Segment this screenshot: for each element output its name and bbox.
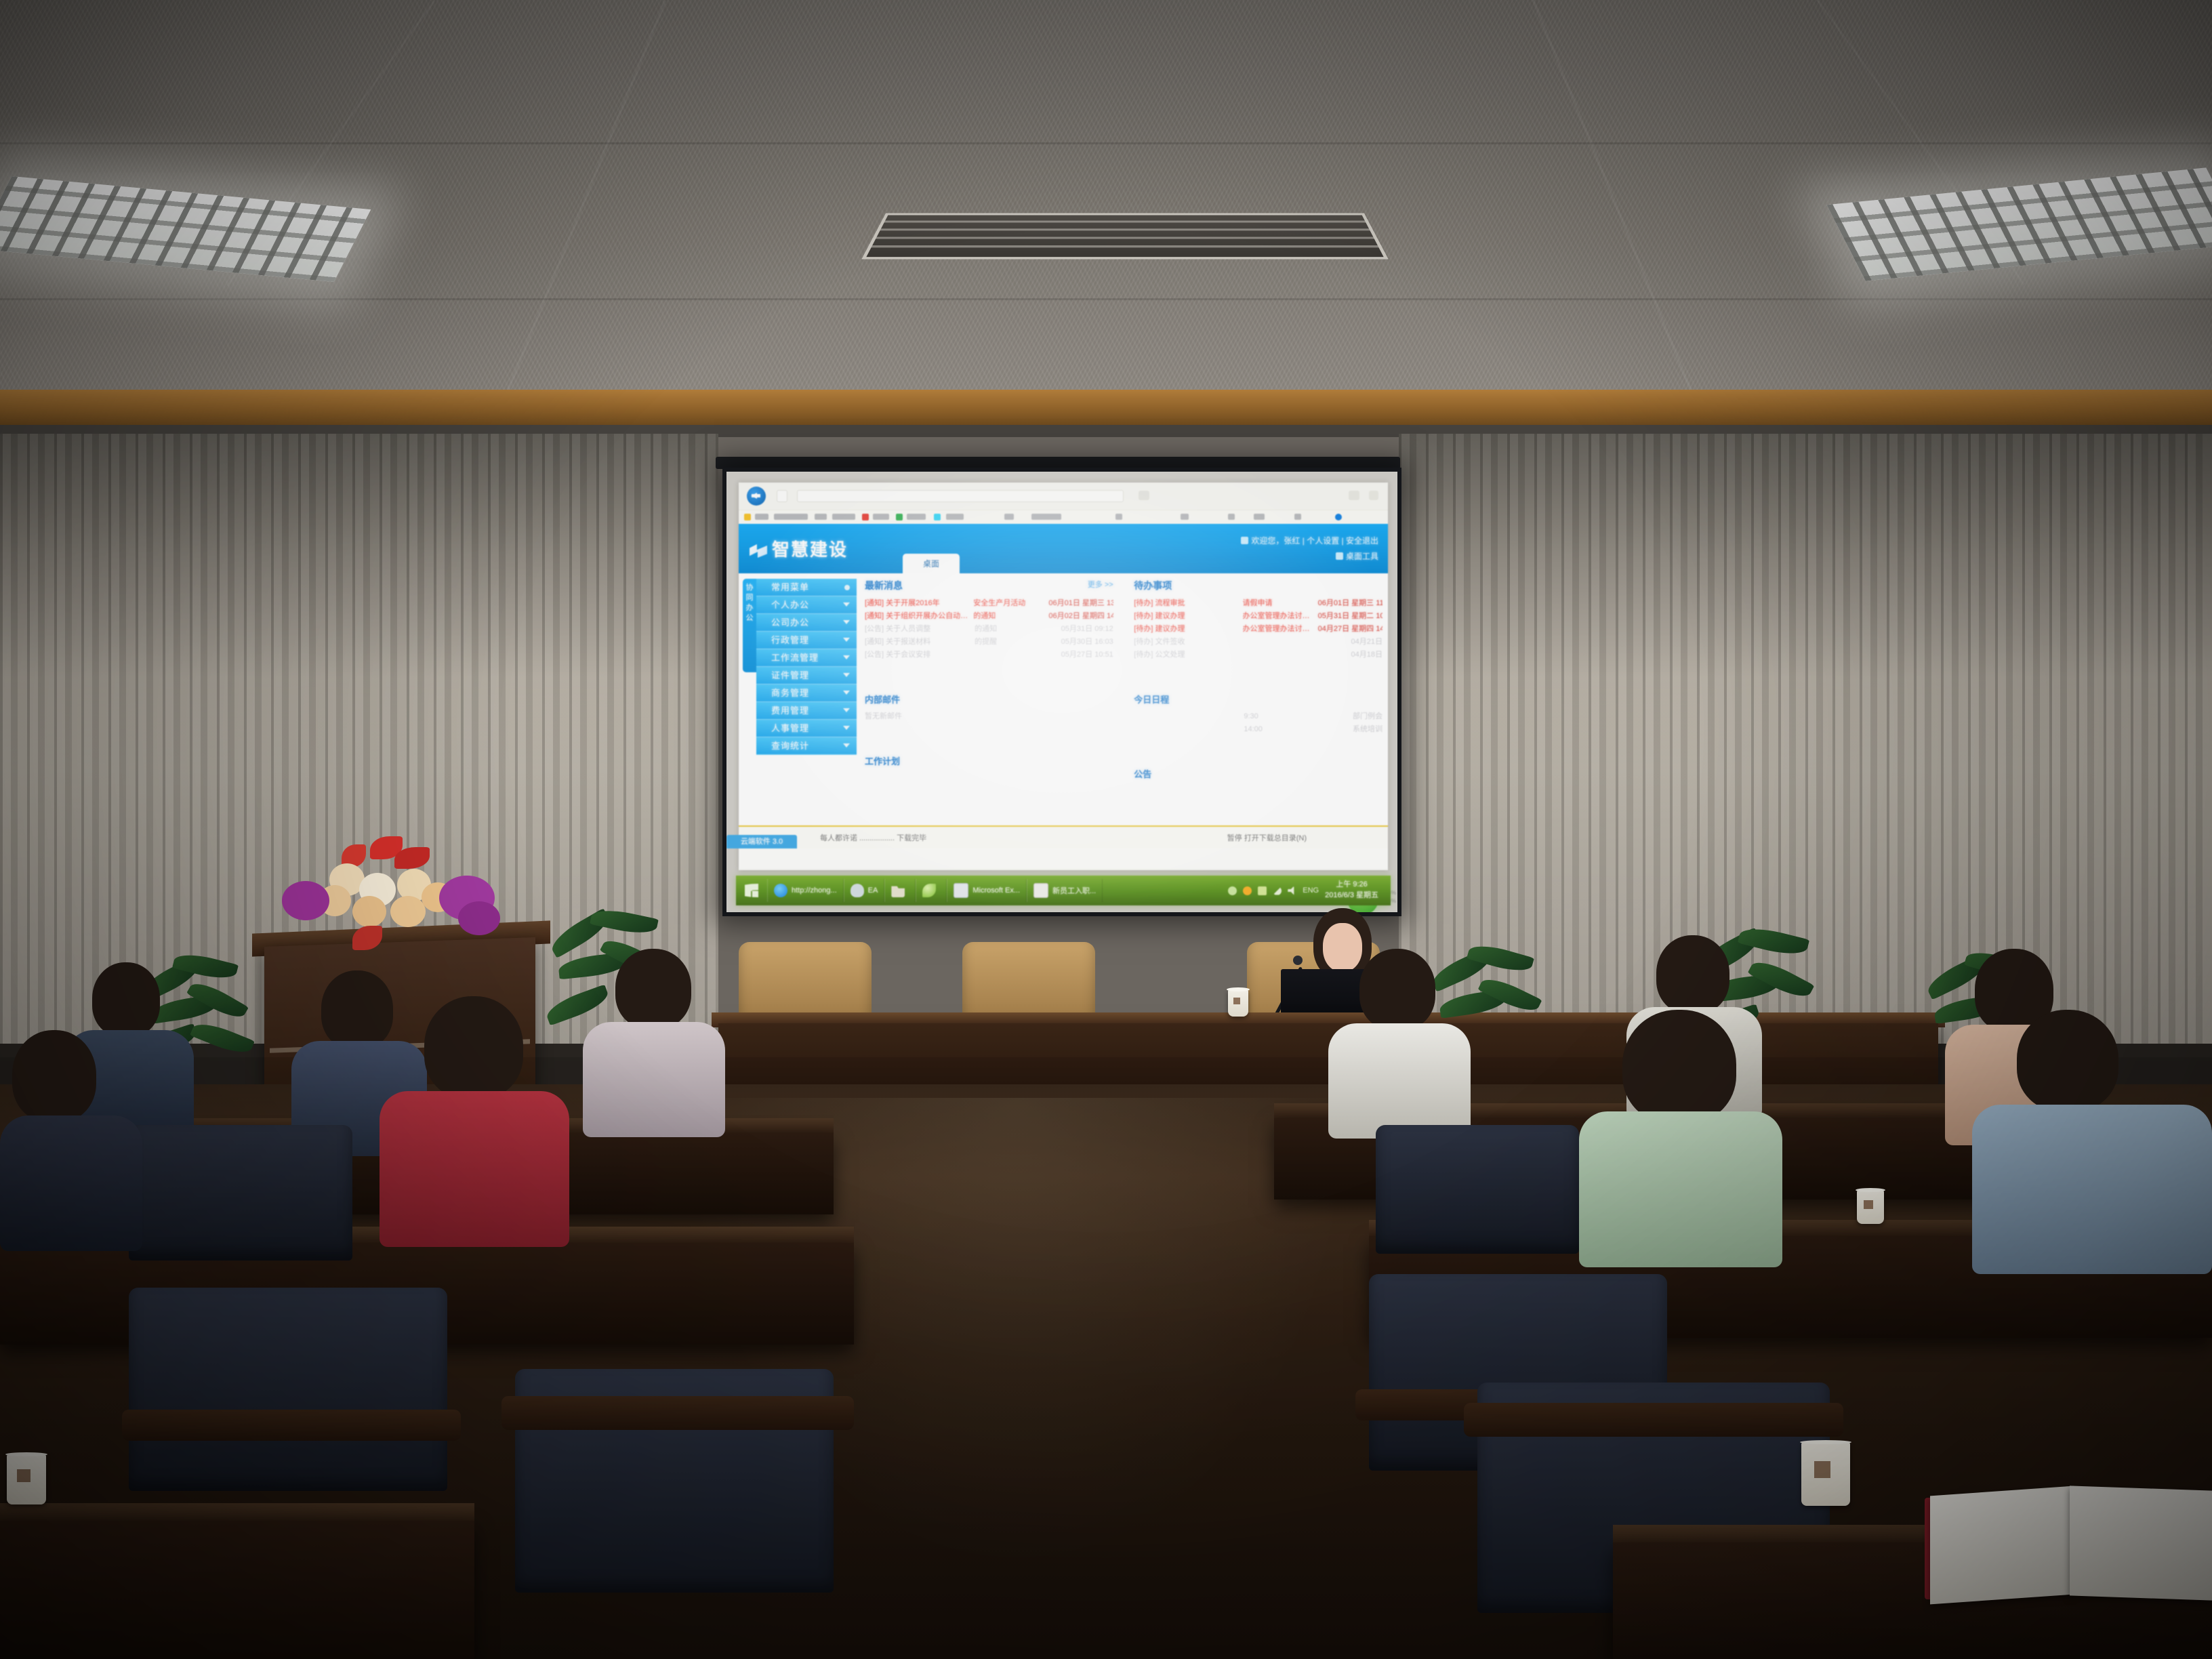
news-sub: 的通知 — [973, 610, 1044, 623]
chair — [129, 1288, 447, 1491]
news-date: 05月30日 16:03 — [1051, 636, 1113, 649]
clock-date: 2016/6/3 星期五 — [1325, 890, 1378, 901]
news-date: 05月31日 09:12 — [1051, 623, 1113, 636]
panel-title: 公告 — [1134, 767, 1382, 780]
browser-nav-bar — [739, 483, 1388, 510]
attendee-head — [424, 996, 523, 1099]
favorite-item[interactable] — [1254, 514, 1265, 520]
mail-title: 暂无新邮件 — [865, 710, 970, 723]
taskbar-item-word[interactable]: 新员工入职... — [1027, 879, 1103, 902]
panel-announcement: 公告 — [1134, 767, 1382, 780]
attendee-head — [615, 949, 691, 1029]
taskbar-item-excel[interactable]: Microsoft Ex... — [947, 879, 1027, 902]
attendee — [1579, 1010, 1782, 1240]
panel-title-text: 待办事项 — [1134, 580, 1172, 591]
brand-text: 智慧建设 — [772, 539, 848, 560]
panel-title: 内部邮件 — [865, 693, 1113, 705]
news-title: [通知] 关于开展2016年 — [865, 597, 969, 610]
volume-icon[interactable] — [1288, 886, 1296, 895]
schedule-subject: 系统培训 — [1320, 723, 1382, 736]
panel-more-link[interactable]: 更多 >> — [1088, 579, 1113, 590]
cup-logo — [1233, 998, 1240, 1004]
download-tab[interactable]: 云端软件 3.0 — [726, 835, 797, 848]
favorites-bar — [739, 510, 1388, 524]
favorite-icon[interactable] — [862, 514, 869, 520]
news-title: [通知] 关于报送材料 — [865, 636, 970, 649]
panel-title: 待办事项 — [1134, 579, 1382, 592]
ceiling-seam — [0, 298, 2212, 300]
sidebar-item-label: 工作流管理 — [771, 653, 819, 663]
panel-title: 今日日程 — [1134, 693, 1382, 705]
attendee-head — [92, 962, 160, 1037]
favorite-icon[interactable] — [934, 514, 941, 520]
chevron-down-icon — [843, 708, 850, 712]
welcome-row[interactable]: 欢迎您，张红 | 个人设置 | 安全退出 — [1241, 533, 1378, 549]
sidebar-item-stats[interactable]: 查询统计 — [756, 737, 857, 755]
panel-todo: 待办事项 [待办] 流程审批 请假申请 06月01日 星期三 11:20 [待办… — [1134, 579, 1382, 785]
cup-logo — [17, 1469, 30, 1482]
todo-subject — [1244, 636, 1315, 649]
chair — [129, 1125, 352, 1261]
chair-armrest — [501, 1396, 854, 1430]
attendee — [583, 949, 725, 1118]
sidebar-item-common[interactable]: 常用菜单 — [756, 579, 857, 596]
chair — [1376, 1125, 1579, 1254]
todo-type: [待办] 公文处理 — [1134, 649, 1240, 661]
taskbar-item-label: EA — [868, 886, 878, 895]
app-body: 协同办公 常用菜单 个人办公 公司办公 行政管理 工作流管理 证件管理 商务管理… — [739, 573, 1388, 848]
ceiling-air-vent — [861, 213, 1388, 260]
todo-type: [待办] 流程审批 — [1134, 597, 1238, 610]
taskbar-item-leaf[interactable] — [916, 879, 947, 902]
home-icon[interactable] — [1139, 491, 1149, 500]
dot-icon — [844, 585, 850, 590]
welcome-text: 欢迎您，张红 | 个人设置 | 安全退出 — [1251, 536, 1378, 546]
mail-date — [1051, 710, 1113, 723]
mail-row[interactable]: 暂无新邮件 — [865, 710, 1113, 723]
download-actions[interactable]: 暂停 打开下载总目录(N) — [1227, 832, 1307, 843]
user-bar: 欢迎您，张红 | 个人设置 | 安全退出 桌面工具 — [1241, 533, 1378, 565]
conference-room-photo: 智慧建设 欢迎您，张红 | 个人设置 | 安全退出 桌面工具 桌面 协同办公 常… — [0, 0, 2212, 1659]
address-bar[interactable] — [797, 490, 1124, 502]
sidebar-item-company[interactable]: 公司办公 — [756, 614, 857, 632]
chevron-down-icon — [843, 638, 850, 642]
sidebar-item-workflow[interactable]: 工作流管理 — [756, 649, 857, 667]
vent-slat — [876, 237, 1374, 239]
download-text: 每人都许诺 ................. 下载完毕 — [820, 832, 926, 843]
flower-peach — [390, 896, 426, 927]
todo-row[interactable]: [待办] 流程审批 请假申请 06月01日 星期三 11:20 — [1134, 597, 1382, 610]
attendee-head — [1656, 935, 1729, 1014]
news-sub: 安全生产月活动 — [973, 597, 1044, 610]
tray-language[interactable]: ENG — [1303, 886, 1319, 895]
schedule-label — [1134, 723, 1240, 736]
notebook-page-right — [2070, 1486, 2212, 1600]
attendee-torso-white — [1328, 1023, 1471, 1139]
todo-row[interactable]: [待办] 公文处理 04月18日 — [1134, 649, 1382, 661]
chevron-down-icon — [843, 620, 850, 624]
paper-cup — [1228, 989, 1248, 1017]
panel-work-plan: 工作计划 — [865, 754, 1113, 767]
attendee — [1972, 1010, 2212, 1254]
paper-cup — [7, 1454, 46, 1504]
favorite-item[interactable] — [755, 514, 769, 520]
chair-armrest — [1464, 1403, 1843, 1437]
attendee-torso-green — [1579, 1111, 1782, 1267]
sidebar-item-label: 查询统计 — [771, 741, 809, 751]
flower-arrangement — [271, 834, 515, 949]
favorite-item[interactable] — [1115, 514, 1122, 520]
news-sub: 的提醒 — [975, 636, 1046, 649]
notebook-page-left — [1930, 1486, 2074, 1605]
favorites-star-icon[interactable] — [744, 514, 751, 520]
favorite-item[interactable] — [774, 514, 808, 520]
flower-peach — [352, 896, 386, 927]
sidebar-item-business[interactable]: 商务管理 — [756, 684, 857, 702]
todo-date: 04月21日 — [1320, 636, 1382, 649]
schedule-label — [1134, 710, 1240, 723]
attendee — [0, 1030, 142, 1233]
sidebar-item-expense[interactable]: 费用管理 — [756, 702, 857, 720]
taskbar-item-folder[interactable] — [884, 879, 916, 902]
cup-logo — [1864, 1200, 1873, 1209]
news-sub: 的通知 — [975, 623, 1046, 636]
sidebar-item-certificates[interactable]: 证件管理 — [756, 667, 857, 684]
panel-title-text: 最新消息 — [865, 580, 903, 591]
sidebar-menu: 常用菜单 个人办公 公司办公 行政管理 工作流管理 证件管理 商务管理 费用管理… — [756, 579, 857, 755]
news-title: [公告] 关于会议安排 — [865, 649, 970, 661]
monitor-icon — [1336, 552, 1343, 560]
attendee-torso — [583, 1022, 725, 1137]
system-tray: ENG 上午 9:26 2016/6/3 星期五 — [1228, 880, 1391, 901]
todo-type: [待办] 建议办理 — [1134, 610, 1238, 623]
word-icon — [1033, 883, 1048, 898]
app-brand: 智慧建设 — [750, 536, 848, 561]
shield-icon[interactable] — [1228, 886, 1237, 895]
todo-date: 06月01日 星期三 11:20 — [1318, 597, 1382, 610]
chair-armrest — [122, 1410, 461, 1441]
news-title: [通知] 关于组织开展办公自动化系统培训 — [865, 610, 969, 623]
projected-desktop: 智慧建设 欢迎您，张红 | 个人设置 | 安全退出 桌面工具 桌面 协同办公 常… — [726, 472, 1397, 912]
taskbar-item-label: http://zhong... — [792, 886, 837, 895]
sidebar-group-label: 协同办公 — [743, 579, 756, 672]
favorite-item[interactable] — [832, 514, 855, 520]
favorite-icon[interactable] — [1335, 514, 1342, 520]
taskbar-item-label: 新员工入职... — [1052, 885, 1096, 896]
usb-icon[interactable] — [1258, 886, 1267, 895]
sidebar-item-label: 证件管理 — [771, 670, 809, 680]
plant-leaf — [190, 1018, 255, 1059]
news-sub — [975, 649, 1046, 661]
brand-logo-icon — [750, 544, 767, 558]
download-bar: 云端软件 3.0 每人都许诺 ................. 下载完毕 暂停… — [739, 825, 1388, 848]
folder-icon — [891, 884, 905, 897]
windows-taskbar: http://zhong... EA — [736, 876, 1391, 905]
chevron-down-icon — [843, 691, 850, 695]
news-date: 06月02日 星期四 14:24 — [1048, 610, 1113, 623]
projection-screen: 智慧建设 欢迎您，张红 | 个人设置 | 安全退出 桌面工具 桌面 协同办公 常… — [722, 468, 1401, 916]
favorite-item[interactable] — [1228, 514, 1235, 520]
vent-slat — [880, 228, 1370, 230]
panel-title: 更多 >> 最新消息 — [865, 579, 1113, 592]
favorite-item[interactable] — [815, 514, 827, 520]
schedule-subject: 部门例会 — [1320, 710, 1382, 723]
attendee-torso-blue — [1972, 1105, 2212, 1274]
todo-date: 04月18日 — [1320, 649, 1382, 661]
sidebar-item-label: 公司办公 — [771, 617, 809, 628]
news-row[interactable]: [公告] 关于会议安排 05月27日 10:51 — [865, 649, 1113, 661]
start-button[interactable] — [736, 876, 767, 905]
todo-subject — [1244, 649, 1315, 661]
favorite-item[interactable] — [1031, 514, 1061, 520]
news-title: [公告] 关于人员调整 — [865, 623, 970, 636]
flower-purple — [458, 901, 500, 935]
todo-date: 05月31日 星期二 10:25 — [1318, 610, 1382, 623]
attendee-head — [12, 1030, 96, 1122]
favorite-icon[interactable] — [896, 514, 903, 520]
taskbar-item-label: Microsoft Ex... — [972, 886, 1020, 895]
todo-type: [待办] 文件签收 — [1134, 636, 1240, 649]
paper-cup — [1857, 1190, 1884, 1224]
panel-today-schedule: 今日日程 9:30 部门例会 14:00 — [1134, 693, 1382, 736]
browser-window: 智慧建设 欢迎您，张红 | 个人设置 | 安全退出 桌面工具 桌面 协同办公 常… — [739, 483, 1388, 870]
news-row[interactable]: [通知] 关于报送材料 的提醒 05月30日 16:03 — [865, 636, 1113, 649]
taskbar-clock[interactable]: 上午 9:26 2016/6/3 星期五 — [1325, 880, 1384, 901]
refresh-icon[interactable] — [777, 490, 787, 502]
sidebar-item-hr[interactable]: 人事管理 — [756, 720, 857, 737]
chevron-down-icon — [843, 602, 850, 607]
flower-red — [352, 926, 382, 950]
wall-valance-band — [0, 390, 2212, 425]
sidebar-item-label: 常用菜单 — [771, 582, 809, 592]
microphone-head — [1293, 956, 1303, 965]
projection-surface: 智慧建设 欢迎您，张红 | 个人设置 | 安全退出 桌面工具 桌面 协同办公 常… — [726, 472, 1397, 912]
back-icon[interactable] — [747, 487, 766, 506]
sidebar-item-label: 个人办公 — [771, 600, 809, 610]
favorite-item[interactable] — [1181, 514, 1189, 520]
favorite-item[interactable] — [907, 514, 926, 520]
gear-icon[interactable] — [1369, 491, 1378, 500]
app-header: 智慧建设 欢迎您，张红 | 个人设置 | 安全退出 桌面工具 桌面 — [739, 524, 1388, 574]
panel-latest-news: 更多 >> 最新消息 [通知] 关于开展2016年 安全生产月活动 06月01日… — [865, 579, 1113, 772]
vent-slat — [871, 245, 1378, 247]
sidebar-item-label: 费用管理 — [771, 705, 809, 716]
attendee — [1328, 949, 1471, 1118]
favorite-item[interactable] — [1004, 514, 1014, 520]
todo-subject: 请假申请 — [1243, 597, 1314, 610]
star-icon[interactable] — [1349, 491, 1359, 500]
sidebar-item-personal[interactable]: 个人办公 — [756, 596, 857, 614]
todo-date: 04月27日 星期四 14:33 — [1318, 623, 1382, 636]
ie-icon — [774, 884, 787, 897]
cloud-icon — [851, 884, 864, 897]
news-row[interactable]: [通知] 关于开展2016年 安全生产月活动 06月01日 星期三 13:45 — [865, 597, 1113, 610]
open-notebook — [1925, 1488, 2212, 1603]
user-icon — [1241, 537, 1248, 544]
mail-sub — [975, 710, 1046, 723]
panel-internal-mail: 内部邮件 暂无新邮件 — [865, 693, 1113, 723]
news-date: 05月27日 10:51 — [1051, 649, 1113, 661]
chevron-down-icon — [843, 673, 850, 677]
chevron-down-icon — [843, 655, 850, 659]
todo-row[interactable]: [待办] 文件签收 04月21日 — [1134, 636, 1382, 649]
schedule-time: 14:00 — [1244, 723, 1315, 736]
todo-subject: 办公室管理办法讨论稿 会签 — [1243, 610, 1314, 623]
favorite-item[interactable] — [873, 514, 889, 520]
attendee-torso-red — [380, 1091, 569, 1247]
cup-logo — [1814, 1461, 1830, 1477]
windows-logo-icon — [745, 884, 758, 897]
leaf-icon — [922, 884, 936, 897]
desktop-tool-row[interactable]: 桌面工具 — [1241, 549, 1378, 565]
excel-icon — [954, 883, 968, 898]
schedule-time: 9:30 — [1244, 710, 1315, 723]
todo-row[interactable]: [待办] 建议办理 办公室管理办法讨论稿 会签 05月31日 星期二 10:25 — [1134, 610, 1382, 623]
content-panels: 更多 >> 最新消息 [通知] 关于开展2016年 安全生产月活动 06月01日… — [865, 579, 1382, 846]
attendee-torso — [0, 1115, 142, 1251]
sidebar-item-label: 人事管理 — [771, 723, 809, 733]
news-row[interactable]: [公告] 关于人员调整 的通知 05月31日 09:12 — [865, 623, 1113, 636]
sidebar-item-label: 行政管理 — [771, 635, 809, 645]
news-date: 06月01日 星期三 13:45 — [1048, 597, 1113, 610]
schedule-row[interactable]: 9:30 部门例会 — [1134, 710, 1382, 723]
tab-desktop[interactable]: 桌面 — [903, 554, 960, 574]
favorite-item[interactable] — [946, 514, 964, 520]
chevron-down-icon — [843, 726, 850, 730]
todo-row[interactable]: [待办] 建议办理 办公室管理办法讨论稿 会签 04月27日 星期四 14:33 — [1134, 623, 1382, 636]
flower-purple — [282, 881, 329, 920]
attendee — [380, 996, 569, 1220]
todo-subject: 办公室管理办法讨论稿 会签 — [1243, 623, 1314, 636]
taskbar-item-ea[interactable]: EA — [844, 879, 885, 902]
attendee-head — [1622, 1010, 1736, 1124]
sidebar-item-label: 商务管理 — [771, 688, 809, 698]
attendee-head — [1359, 949, 1435, 1030]
network-icon[interactable] — [1273, 886, 1282, 895]
attendee-head — [2017, 1010, 2118, 1111]
paper-cup — [1801, 1442, 1850, 1506]
sidebar-item-admin[interactable]: 行政管理 — [756, 632, 857, 649]
desk — [0, 1521, 474, 1659]
vent-slat — [884, 221, 1366, 223]
flame-icon[interactable] — [1243, 886, 1252, 895]
desktop-tool-text: 桌面工具 — [1346, 552, 1378, 561]
chevron-down-icon — [843, 743, 850, 747]
panel-title: 工作计划 — [865, 754, 1113, 767]
favorite-item[interactable] — [1294, 514, 1301, 520]
todo-type: [待办] 建议办理 — [1134, 623, 1238, 636]
news-row[interactable]: [通知] 关于组织开展办公自动化系统培训 的通知 06月02日 星期四 14:2… — [865, 610, 1113, 623]
clock-time: 上午 9:26 — [1325, 880, 1378, 890]
taskbar-item-browser[interactable]: http://zhong... — [767, 879, 844, 902]
schedule-row[interactable]: 14:00 系统培训 — [1134, 723, 1382, 736]
